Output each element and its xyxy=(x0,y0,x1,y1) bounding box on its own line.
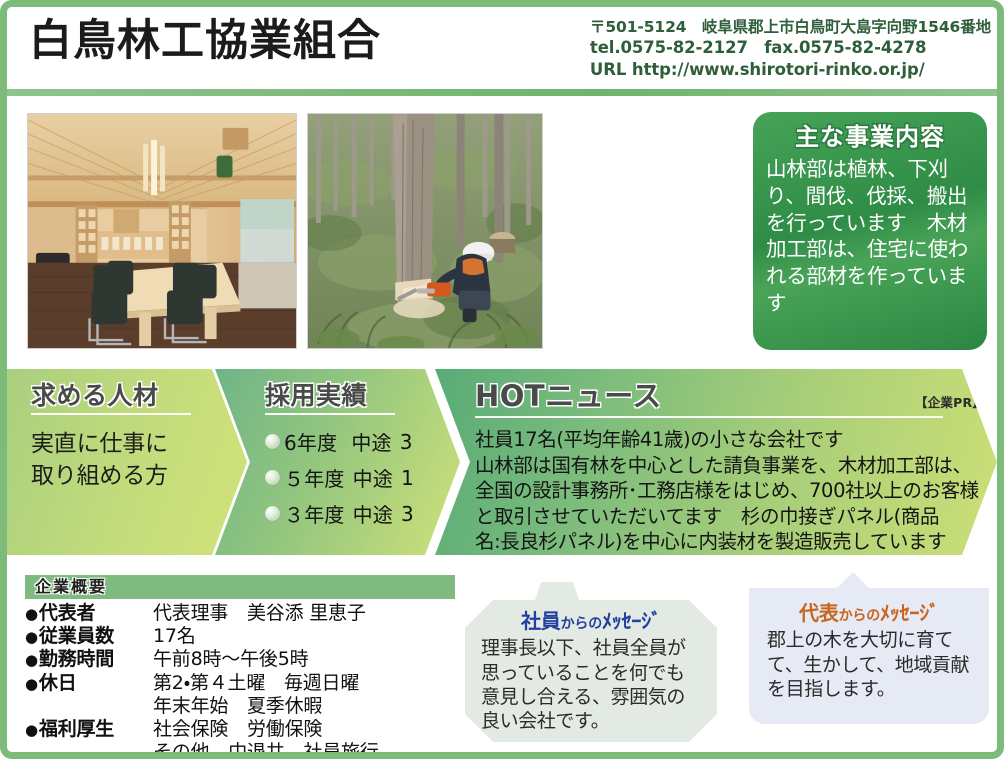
table-row: ●勤務時間 午前8時〜午後5時 xyxy=(25,648,455,671)
postal-address: 〒501-5124 岐阜県郡上市白鳥町大島字向野1546番地 xyxy=(590,17,991,37)
overview-value: 午前8時〜午後5時 xyxy=(153,648,308,671)
photo-wooden-interior xyxy=(27,113,297,349)
hiring-type: 中途 xyxy=(351,427,391,456)
staff-message-title: 社員からのﾒｯｾｰｼﾞ xyxy=(465,610,717,632)
banner-hot-news-body: 社員17名(平均年齢41歳)の小さな会社です 山林部は国有林を中心とした請負事業… xyxy=(475,427,997,555)
tel-fax: tel.0575-82-2127 fax.0575-82-4278 xyxy=(590,37,991,58)
pr-tag-badge: 【企業PR】 xyxy=(915,392,985,411)
table-row: ●休日 第2・第４土曜 毎週日曜 年末年始 夏季休暇 xyxy=(25,672,455,718)
banner-hot-news: HOTニュース 【企業PR】 社員17名(平均年齢41歳)の小さな会社です 山林… xyxy=(435,369,997,555)
staff-title-tail: ﾒｯｾｰｼﾞ xyxy=(602,609,661,633)
representative-message-title: 代表からのﾒｯｾｰｼﾞ xyxy=(749,602,989,624)
hiring-year: 6年度 xyxy=(284,427,337,456)
hiring-year: ５年度 xyxy=(284,463,345,492)
rep-title-tail: ﾒｯｾｰｼﾞ xyxy=(880,601,939,625)
photo-forestry-worker xyxy=(307,113,543,349)
list-item: ５年度 中途 1 xyxy=(265,463,460,492)
bullet-icon xyxy=(265,434,280,449)
overview-rows: ●代表者 代表理事 美谷添 里恵子 ●従業員数 17名 ●勤務時間 午前8時〜午… xyxy=(25,602,455,759)
list-item: 6年度 中途 3 xyxy=(265,427,460,456)
overview-value: 17名 xyxy=(153,625,196,648)
overview-value: 社会保険 労働保険 その他 中退共 社員旅行 xyxy=(153,718,379,759)
page-header: 白鳥林工協業組合 〒501-5124 岐阜県郡上市白鳥町大島字向野1546番地 … xyxy=(7,7,997,89)
bullet-icon xyxy=(265,506,280,521)
rep-title-main: 代表 xyxy=(799,601,839,625)
banner-hiring-record: 採用実績 6年度 中途 3 ５年度 中途 xyxy=(215,369,460,555)
overview-value: 第2・第４土曜 毎週日曜 年末年始 夏季休暇 xyxy=(153,672,359,718)
table-row: ●福利厚生 社会保険 労働保険 その他 中退共 社員旅行 xyxy=(25,718,455,759)
hiring-count: 3 xyxy=(400,430,413,454)
banner-hot-news-title: HOTニュース xyxy=(475,382,662,411)
bullet-icon xyxy=(265,470,280,485)
wooden-interior-illustration xyxy=(28,114,296,348)
staff-message-bubble: 社員からのﾒｯｾｰｼﾞ 理事長以下、社員全員が 思っていることを何でも 意見し合… xyxy=(465,582,717,742)
hiring-count: 1 xyxy=(401,466,414,490)
overview-value: 代表理事 美谷添 里恵子 xyxy=(153,602,366,625)
banner-desired-talent-title: 求める人材 xyxy=(31,383,247,408)
hiring-count: 3 xyxy=(401,502,414,526)
hot-news-header: HOTニュース 【企業PR】 xyxy=(475,382,997,412)
hiring-type: 中途 xyxy=(353,499,393,528)
hiring-year: ３年度 xyxy=(284,499,345,528)
overview-label: ●代表者 xyxy=(25,602,153,625)
overview-title: 企業概要 xyxy=(35,577,107,596)
contact-block: 〒501-5124 岐阜県郡上市白鳥町大島字向野1546番地 tel.0575-… xyxy=(590,17,991,80)
staff-message-body: 理事長以下、社員全員が 思っていることを何でも 意見し合える、雰囲気の 良い会社… xyxy=(481,636,717,733)
list-item: ３年度 中途 3 xyxy=(265,499,460,528)
main-business-box: 主な事業内容 山林部は植林、下刈り、間伐、伐採、搬出を行っています 木材加工部は… xyxy=(753,112,987,350)
overview-header-bar: 企業概要 xyxy=(25,575,455,599)
title-underline xyxy=(265,413,395,415)
main-business-title: 主な事業内容 xyxy=(766,124,974,150)
overview-label: ●従業員数 xyxy=(25,625,153,648)
rep-title-mid: からの xyxy=(839,608,880,624)
banner-desired-talent-body: 実直に仕事に 取り組める方 xyxy=(31,429,247,492)
representative-message-body: 郡上の木を大切に育て て、生かして、地域貢献 を目指します。 xyxy=(767,628,989,700)
banner-hiring-record-title: 採用実績 xyxy=(265,383,460,408)
main-business-body: 山林部は植林、下刈り、間伐、伐採、搬出を行っています 木材加工部は、住宅に使われ… xyxy=(766,156,974,316)
hiring-record-list: 6年度 中途 3 ５年度 中途 1 xyxy=(265,427,460,528)
representative-message-bubble: 代表からのﾒｯｾｰｼﾞ 郡上の木を大切に育て て、生かして、地域貢献 を目指しま… xyxy=(749,572,989,724)
banner-row: 求める人材 実直に仕事に 取り組める方 採用実績 6年度 中途 3 xyxy=(7,369,997,555)
website-url[interactable]: URL http://www.shirotori-rinko.or.jp/ xyxy=(590,59,991,80)
hiring-type: 中途 xyxy=(353,463,393,492)
overview-label: ●休日 xyxy=(25,672,153,695)
title-underline xyxy=(31,413,191,415)
overview-label: ●福利厚生 xyxy=(25,718,153,741)
forestry-felling-illustration xyxy=(308,114,542,348)
company-name: 白鳥林工協業組合 xyxy=(29,20,381,63)
table-row: ●代表者 代表理事 美谷添 里恵子 xyxy=(25,602,455,625)
overview-label: ●勤務時間 xyxy=(25,648,153,671)
table-row: ●従業員数 17名 xyxy=(25,625,455,648)
staff-title-main: 社員 xyxy=(521,609,561,633)
banner-desired-talent: 求める人材 実直に仕事に 取り組める方 xyxy=(7,369,247,555)
company-profile-page: 白鳥林工協業組合 〒501-5124 岐阜県郡上市白鳥町大島字向野1546番地 … xyxy=(0,0,1004,759)
title-underline xyxy=(475,416,943,418)
staff-title-mid: からの xyxy=(561,616,602,632)
company-overview: 企業概要 ●代表者 代表理事 美谷添 里恵子 ●従業員数 17名 ●勤務時間 午… xyxy=(25,575,455,753)
header-divider xyxy=(7,89,997,96)
